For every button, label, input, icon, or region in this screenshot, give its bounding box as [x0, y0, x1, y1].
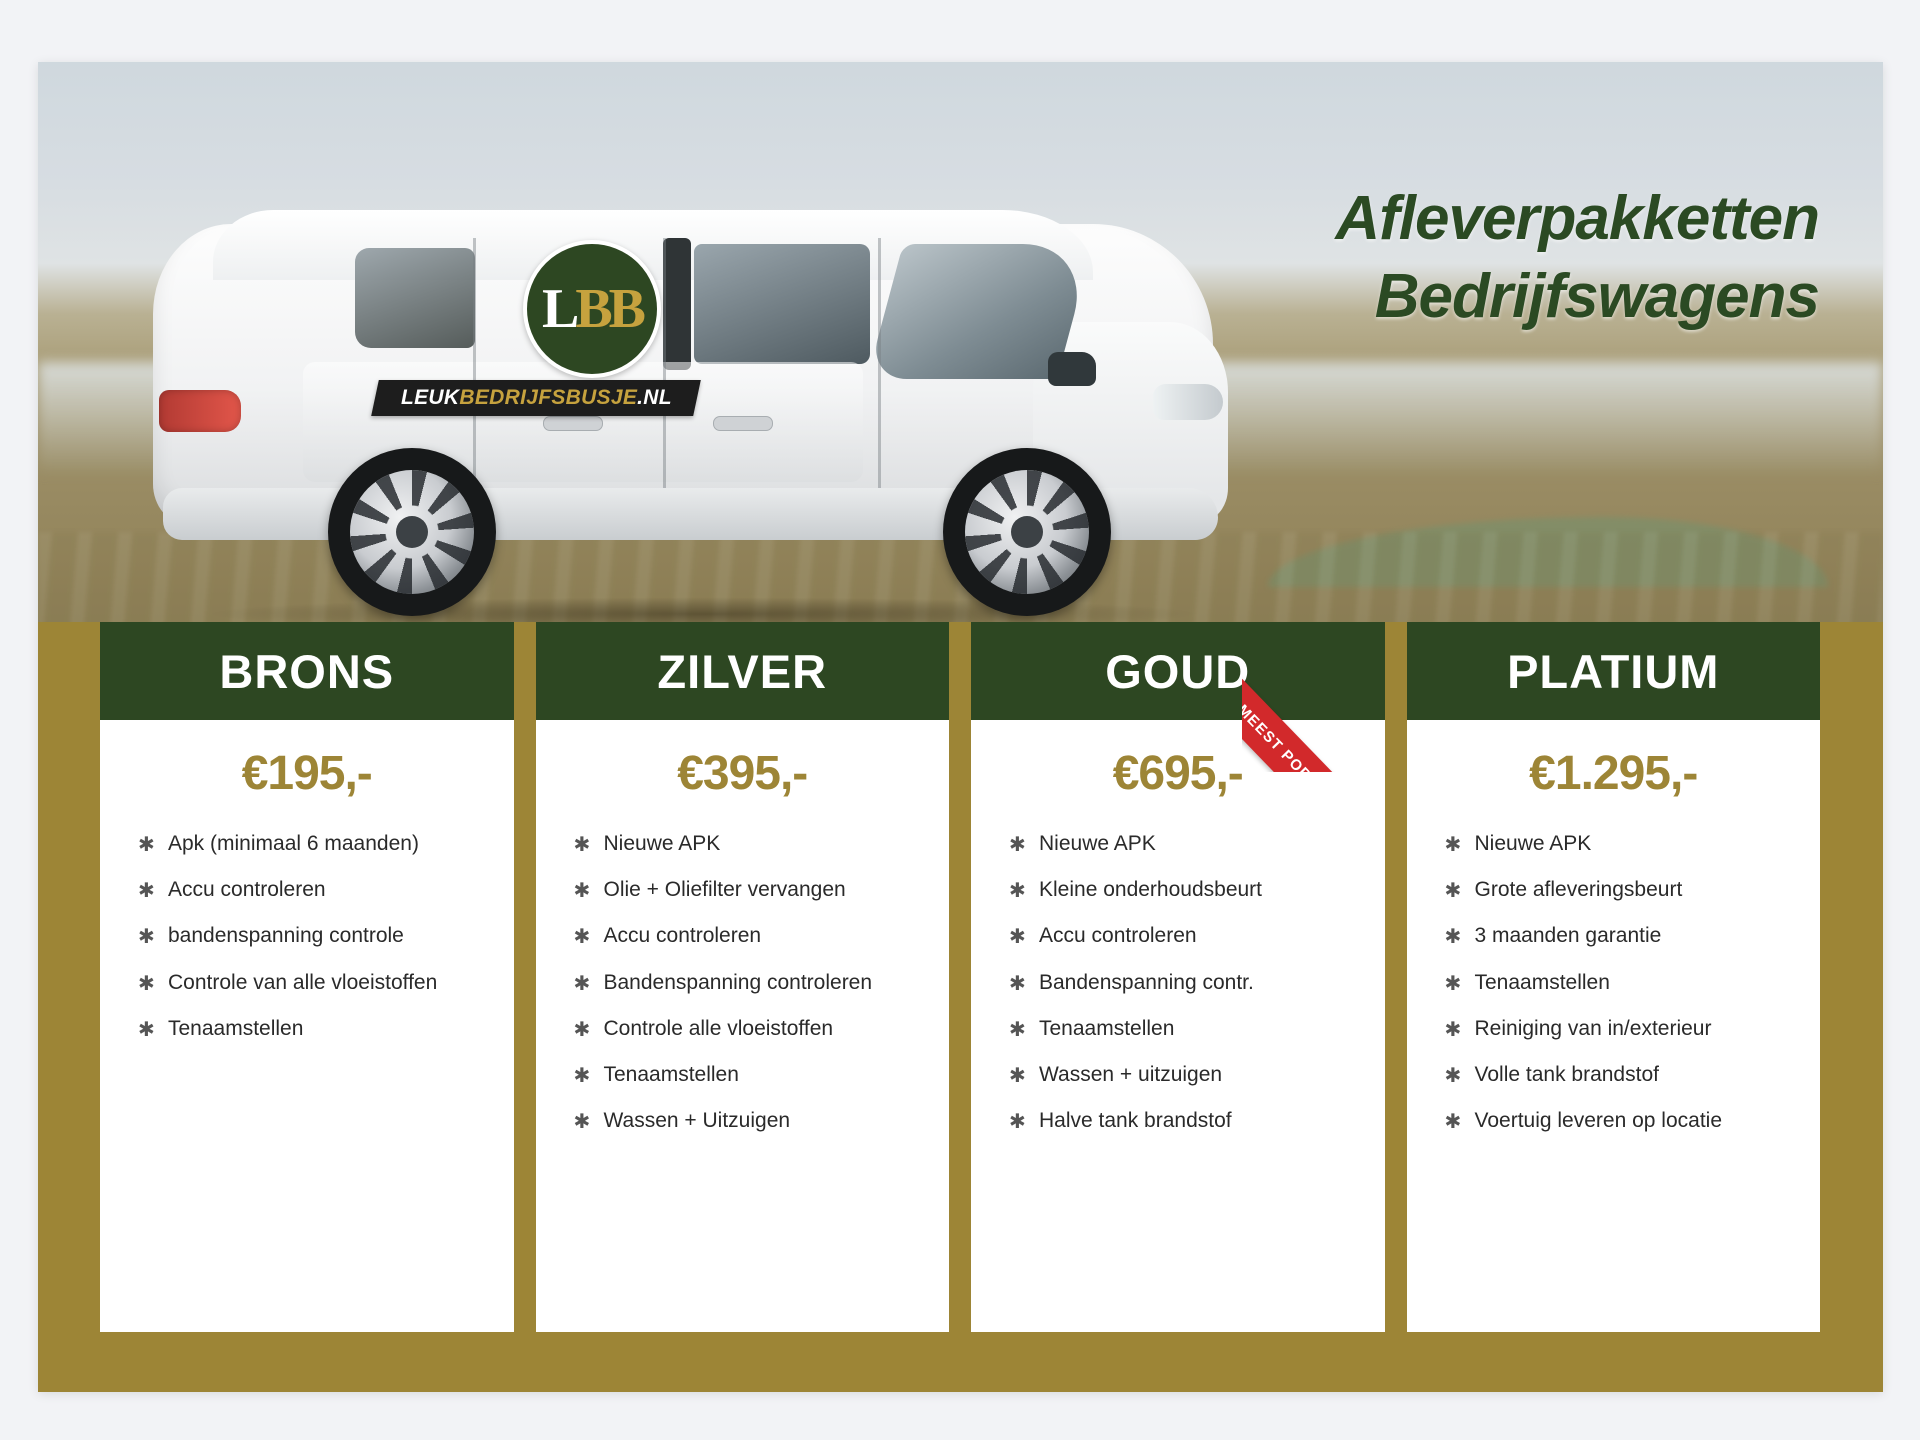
- package-card-goud[interactable]: GOUD €695,- ✱Nieuwe APK ✱Kleine onderhou…: [971, 622, 1385, 1332]
- van-headlight: [1153, 384, 1223, 420]
- website-banner-text: LEUKBEDRIJFSBUSJE.NL: [401, 386, 672, 410]
- feature-text: Controle van alle vloeistoffen: [168, 971, 437, 994]
- list-item: ✱Tenaamstellen: [997, 1016, 1363, 1041]
- feature-text: Kleine onderhoudsbeurt: [1039, 878, 1262, 901]
- asterisk-icon: ✱: [1445, 833, 1462, 857]
- wheel-spokes: [350, 470, 474, 594]
- van-rear-wheel: [328, 448, 496, 616]
- logo-monogram: LBB: [542, 281, 642, 337]
- asterisk-icon: ✱: [138, 833, 155, 857]
- page-root: LBB LEUKBEDRIJFSBUSJE.NL Afleverpakkette…: [0, 0, 1920, 1440]
- list-item: ✱Bandenspanning controleren: [562, 970, 928, 995]
- asterisk-icon: ✱: [574, 972, 591, 996]
- package-header-zilver: ZILVER: [536, 622, 950, 720]
- package-body-zilver: €395,- ✱Nieuwe APK ✱Olie + Oliefilter ve…: [536, 720, 950, 1332]
- asterisk-icon: ✱: [574, 1018, 591, 1042]
- feature-text: Accu controleren: [168, 878, 326, 901]
- feature-text: 3 maanden garantie: [1475, 924, 1662, 947]
- van-side-window: [694, 244, 870, 364]
- feature-text: Wassen + uitzuigen: [1039, 1063, 1222, 1086]
- pricing-section: BRONS €195,- ✱Apk (minimaal 6 maanden) ✱…: [38, 622, 1883, 1392]
- feature-text: Nieuwe APK: [1039, 832, 1156, 855]
- van-rear-quarter-glass: [355, 248, 475, 348]
- website-part-leuk: LEUK: [401, 386, 459, 409]
- list-item: ✱Nieuwe APK: [997, 831, 1363, 856]
- list-item: ✱Accu controleren: [562, 923, 928, 948]
- asterisk-icon: ✱: [138, 879, 155, 903]
- package-price: €395,-: [536, 746, 950, 801]
- feature-text: Voertuig leveren op locatie: [1475, 1109, 1723, 1132]
- feature-text: Bandenspanning contr.: [1039, 971, 1254, 994]
- list-item: ✱Halve tank brandstof: [997, 1108, 1363, 1133]
- feature-text: Nieuwe APK: [1475, 832, 1592, 855]
- list-item: ✱Grote afleveringsbeurt: [1433, 877, 1799, 902]
- package-name: GOUD: [1105, 644, 1250, 699]
- package-body-platium: €1.295,- ✱Nieuwe APK ✱Grote afleveringsb…: [1407, 720, 1821, 1332]
- asterisk-icon: ✱: [574, 1110, 591, 1134]
- asterisk-icon: ✱: [1009, 972, 1026, 996]
- package-name: BRONS: [219, 644, 394, 699]
- feature-text: Apk (minimaal 6 maanden): [168, 832, 419, 855]
- asterisk-icon: ✱: [1009, 833, 1026, 857]
- asterisk-icon: ✱: [138, 925, 155, 949]
- package-body-goud: €695,- ✱Nieuwe APK ✱Kleine onderhoudsbeu…: [971, 720, 1385, 1332]
- logo-letters-bb: BB: [575, 278, 642, 340]
- feature-text: Volle tank brandstof: [1475, 1063, 1659, 1086]
- list-item: ✱Tenaamstellen: [126, 1016, 492, 1041]
- package-price: €1.295,-: [1407, 746, 1821, 801]
- wheel-spokes: [965, 470, 1089, 594]
- package-header-brons: BRONS: [100, 622, 514, 720]
- list-item: ✱Wassen + Uitzuigen: [562, 1108, 928, 1133]
- list-item: ✱Controle alle vloeistoffen: [562, 1016, 928, 1041]
- asterisk-icon: ✱: [138, 972, 155, 996]
- list-item: ✱Reiniging van in/exterieur: [1433, 1016, 1799, 1041]
- van-side-mirror: [1048, 352, 1096, 386]
- asterisk-icon: ✱: [1009, 879, 1026, 903]
- list-item: ✱Accu controleren: [126, 877, 492, 902]
- list-item: ✱3 maanden garantie: [1433, 923, 1799, 948]
- package-name: PLATIUM: [1507, 644, 1719, 699]
- package-card-brons[interactable]: BRONS €195,- ✱Apk (minimaal 6 maanden) ✱…: [100, 622, 514, 1332]
- feature-text: Tenaamstellen: [1475, 971, 1610, 994]
- asterisk-icon: ✱: [138, 1018, 155, 1042]
- van-b-pillar: [663, 238, 691, 370]
- list-item: ✱Nieuwe APK: [1433, 831, 1799, 856]
- feature-text: Tenaamstellen: [1039, 1017, 1174, 1040]
- feature-text: bandenspanning controle: [168, 924, 404, 947]
- package-price: €695,-: [971, 746, 1385, 801]
- asterisk-icon: ✱: [1009, 1064, 1026, 1088]
- package-name: ZILVER: [657, 644, 827, 699]
- title-line-1: Afleverpakketten: [1335, 180, 1819, 258]
- feature-text: Olie + Oliefilter vervangen: [604, 878, 846, 901]
- feature-list-goud: ✱Nieuwe APK ✱Kleine onderhoudsbeurt ✱Acc…: [971, 831, 1385, 1133]
- asterisk-icon: ✱: [1009, 1110, 1026, 1134]
- asterisk-icon: ✱: [1445, 1018, 1462, 1042]
- list-item: ✱Kleine onderhoudsbeurt: [997, 877, 1363, 902]
- feature-text: Wassen + Uitzuigen: [604, 1109, 791, 1132]
- feature-list-platium: ✱Nieuwe APK ✱Grote afleveringsbeurt ✱3 m…: [1407, 831, 1821, 1133]
- asterisk-icon: ✱: [574, 925, 591, 949]
- feature-text: Accu controleren: [604, 924, 762, 947]
- asterisk-icon: ✱: [1009, 1018, 1026, 1042]
- package-card-platium[interactable]: PLATIUM €1.295,- ✱Nieuwe APK ✱Grote afle…: [1407, 622, 1821, 1332]
- feature-text: Grote afleveringsbeurt: [1475, 878, 1683, 901]
- feature-text: Tenaamstellen: [168, 1017, 303, 1040]
- pricing-cards: BRONS €195,- ✱Apk (minimaal 6 maanden) ✱…: [100, 622, 1820, 1332]
- list-item: ✱Accu controleren: [997, 923, 1363, 948]
- van-door-seam: [473, 238, 476, 493]
- list-item: ✱bandenspanning controle: [126, 923, 492, 948]
- feature-text: Reiniging van in/exterieur: [1475, 1017, 1712, 1040]
- title-line-2: Bedrijfswagens: [1335, 258, 1819, 336]
- list-item: ✱Wassen + uitzuigen: [997, 1062, 1363, 1087]
- list-item: ✱Controle van alle vloeistoffen: [126, 970, 492, 995]
- van-door-seam: [878, 238, 881, 493]
- van-door-seam: [663, 238, 666, 493]
- list-item: ✱Tenaamstellen: [562, 1062, 928, 1087]
- list-item: ✱Bandenspanning contr.: [997, 970, 1363, 995]
- asterisk-icon: ✱: [574, 1064, 591, 1088]
- van-door-handle: [543, 416, 603, 431]
- feature-text: Tenaamstellen: [604, 1063, 739, 1086]
- list-item: ✱Voertuig leveren op locatie: [1433, 1108, 1799, 1133]
- asterisk-icon: ✱: [1445, 925, 1462, 949]
- asterisk-icon: ✱: [1445, 1064, 1462, 1088]
- van-front-wheel: [943, 448, 1111, 616]
- feature-text: Controle alle vloeistoffen: [604, 1017, 834, 1040]
- asterisk-icon: ✱: [1445, 879, 1462, 903]
- van-taillight: [159, 390, 241, 432]
- feature-text: Bandenspanning controleren: [604, 971, 873, 994]
- asterisk-icon: ✱: [1445, 1110, 1462, 1134]
- page-title: Afleverpakketten Bedrijfswagens: [1335, 180, 1819, 336]
- package-header-goud: GOUD: [971, 622, 1385, 720]
- feature-text: Halve tank brandstof: [1039, 1109, 1232, 1132]
- package-body-brons: €195,- ✱Apk (minimaal 6 maanden) ✱Accu c…: [100, 720, 514, 1332]
- asterisk-icon: ✱: [574, 833, 591, 857]
- van-illustration: LBB LEUKBEDRIJFSBUSJE.NL: [143, 202, 1253, 622]
- package-price: €195,-: [100, 746, 514, 801]
- package-header-platium: PLATIUM: [1407, 622, 1821, 720]
- asterisk-icon: ✱: [1445, 972, 1462, 996]
- list-item: ✱Apk (minimaal 6 maanden): [126, 831, 492, 856]
- list-item: ✱Tenaamstellen: [1433, 970, 1799, 995]
- website-banner: LEUKBEDRIJFSBUSJE.NL: [371, 380, 701, 416]
- website-part-bedrijfsbusje: BEDRIJFSBUSJE: [459, 386, 637, 409]
- hero-image: LBB LEUKBEDRIJFSBUSJE.NL Afleverpakkette…: [38, 62, 1883, 622]
- feature-text: Accu controleren: [1039, 924, 1197, 947]
- logo-letter-l: L: [542, 278, 575, 340]
- asterisk-icon: ✱: [1009, 925, 1026, 949]
- website-part-tld: .NL: [637, 386, 672, 409]
- package-card-zilver[interactable]: ZILVER €395,- ✱Nieuwe APK ✱Olie + Oliefi…: [536, 622, 950, 1332]
- feature-text: Nieuwe APK: [604, 832, 721, 855]
- feature-list-brons: ✱Apk (minimaal 6 maanden) ✱Accu controle…: [100, 831, 514, 1041]
- company-logo-icon: LBB: [523, 240, 661, 378]
- feature-list-zilver: ✱Nieuwe APK ✱Olie + Oliefilter vervangen…: [536, 831, 950, 1133]
- poster-card: LBB LEUKBEDRIJFSBUSJE.NL Afleverpakkette…: [38, 62, 1883, 1392]
- list-item: ✱Volle tank brandstof: [1433, 1062, 1799, 1087]
- asterisk-icon: ✱: [574, 879, 591, 903]
- list-item: ✱Nieuwe APK: [562, 831, 928, 856]
- van-door-handle: [713, 416, 773, 431]
- list-item: ✱Olie + Oliefilter vervangen: [562, 877, 928, 902]
